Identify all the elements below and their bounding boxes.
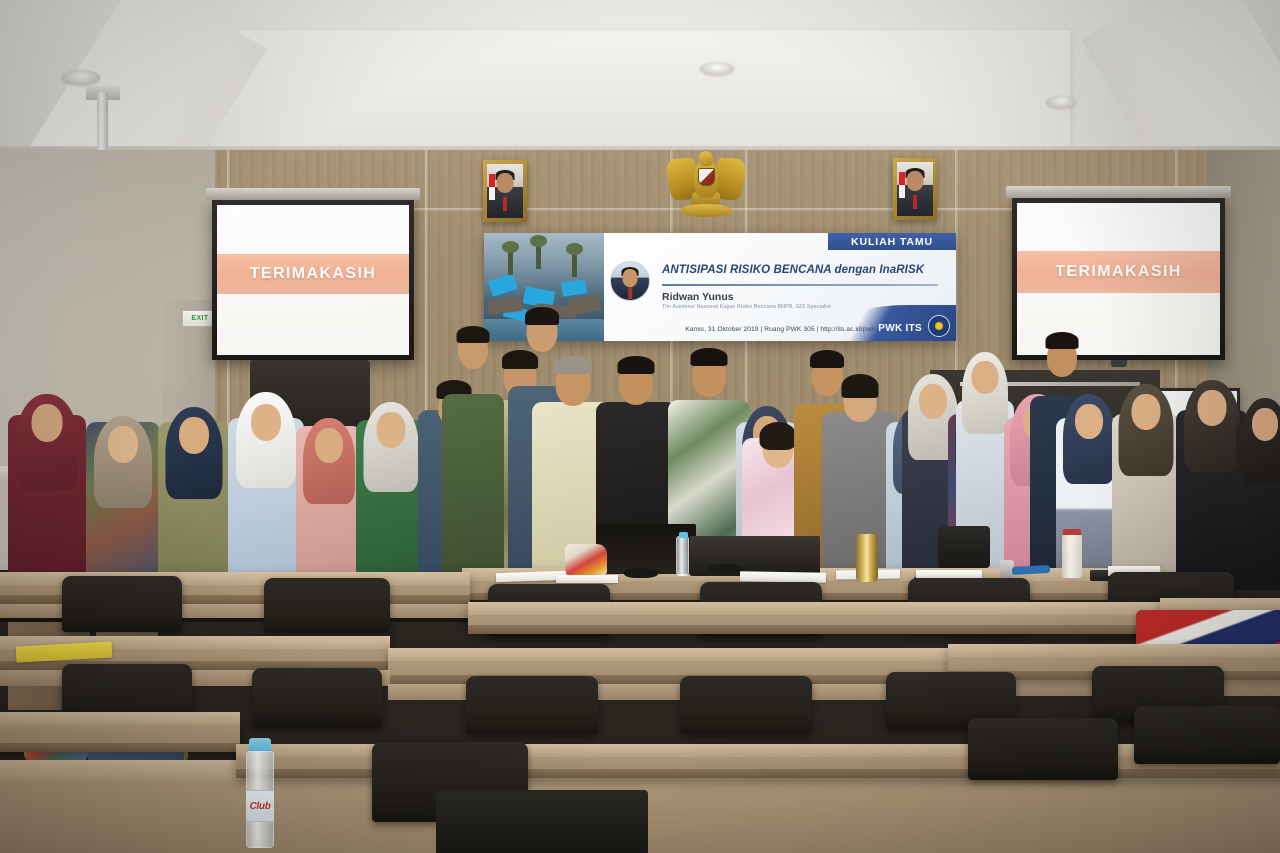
slide-text-left: TERIMAKASIH <box>250 265 377 283</box>
papers <box>556 575 618 583</box>
chair <box>680 676 812 734</box>
vice-president-portrait <box>893 158 937 220</box>
downlight-icon <box>62 70 100 85</box>
club-water-bottle: Club <box>243 738 277 850</box>
bottle-brand-label: Club <box>249 801 270 812</box>
chair <box>1134 706 1280 764</box>
garuda-emblem <box>668 152 744 224</box>
person <box>1112 346 1180 590</box>
ceiling <box>0 0 1280 150</box>
screen-roller <box>1006 186 1231 198</box>
clear-water-bottle <box>676 536 689 576</box>
banner-title: ANTISIPASI RISIKO BENCANA dengan InaRISK <box>662 264 942 276</box>
ceiling-panel <box>210 30 1070 158</box>
banner-header-badge: KULIAH TAMU <box>828 233 956 250</box>
chair <box>466 676 598 734</box>
person <box>86 358 160 590</box>
snack-bag <box>565 544 607 576</box>
mouse <box>624 568 658 578</box>
cable <box>708 564 742 573</box>
desk <box>0 712 240 752</box>
desk <box>468 602 1168 634</box>
bottle-cap <box>249 738 271 752</box>
black-backpack <box>436 790 648 853</box>
chair <box>264 578 390 632</box>
bottle-label: Club <box>246 790 274 822</box>
banner-speaker-name: Ridwan Yunus <box>662 291 734 303</box>
banner-speaker-role: Tim Asistensi Nasional Kajian Risiko Ben… <box>662 304 831 310</box>
banner-header-label: KULIAH TAMU <box>851 236 933 248</box>
slide-band: TERIMAKASIH <box>217 254 409 295</box>
speaker-avatar <box>610 261 650 301</box>
downlight-icon <box>1046 96 1076 108</box>
black-handbag <box>938 526 990 568</box>
person <box>296 362 362 590</box>
person <box>228 350 304 590</box>
flag-icon <box>899 172 905 198</box>
person <box>442 318 504 590</box>
slide-band: TERIMAKASIH <box>1017 251 1220 292</box>
chair <box>968 718 1118 780</box>
downlight-icon <box>700 62 734 75</box>
person <box>158 355 230 590</box>
chair <box>62 576 182 632</box>
exit-sign-label: EXIT <box>191 315 208 322</box>
banner-divider <box>662 284 938 286</box>
person <box>1236 354 1280 590</box>
screen-roller <box>206 188 420 200</box>
chair <box>252 668 382 728</box>
person <box>356 354 426 590</box>
group-photo-scene: EXIT <box>0 0 1280 853</box>
white-jar <box>1062 534 1082 578</box>
slide-text-right: TERIMAKASIH <box>1055 263 1182 281</box>
gold-thermos <box>856 534 878 582</box>
president-portrait <box>483 160 527 222</box>
flag-icon <box>489 174 495 200</box>
person <box>8 350 86 590</box>
